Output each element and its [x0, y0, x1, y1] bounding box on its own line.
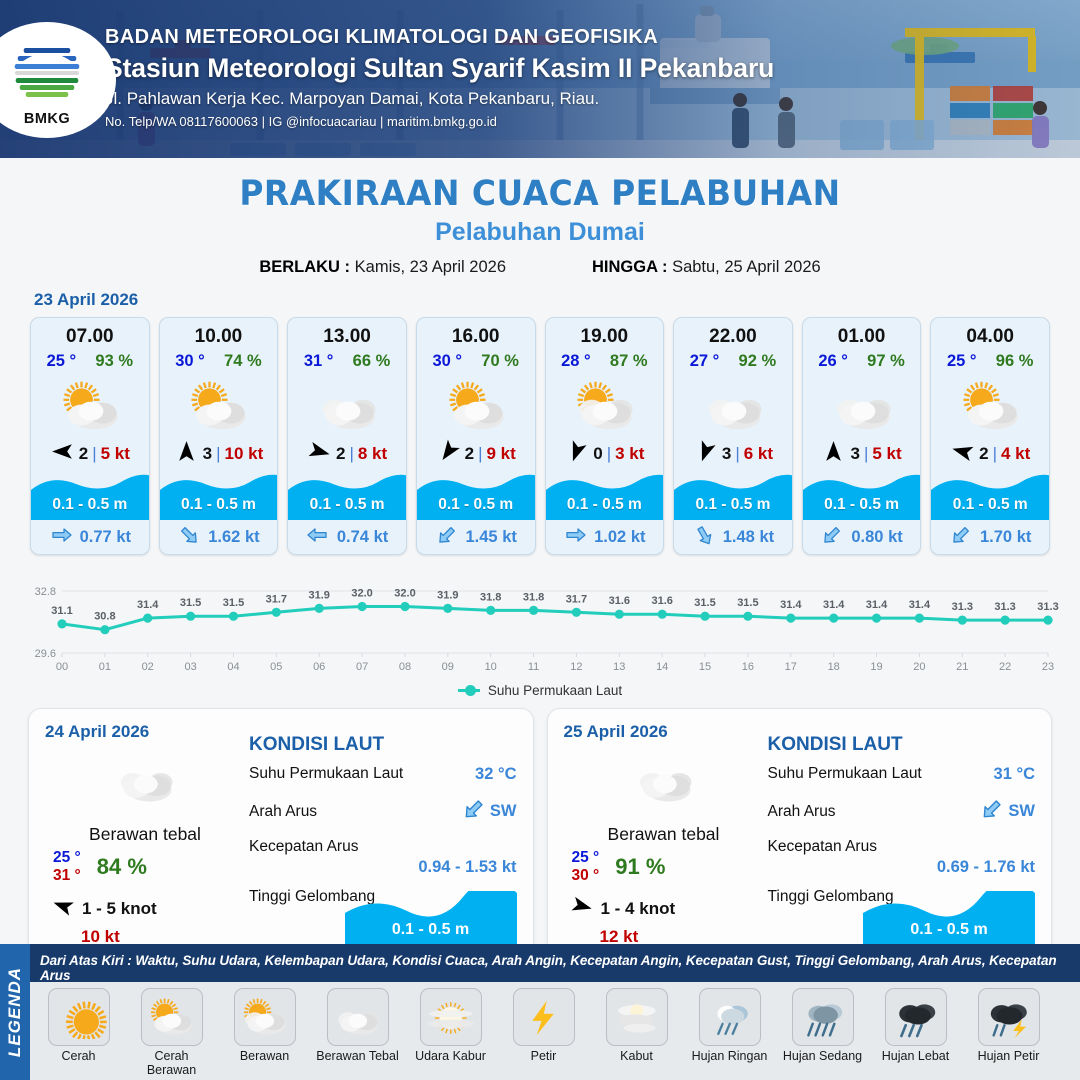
legend-weather-icon: [234, 988, 296, 1046]
card-humidity: 70 %: [481, 352, 519, 371]
card-weather-icon: [160, 374, 278, 436]
legend-item-label: Berawan Tebal: [316, 1049, 398, 1063]
svg-text:31.5: 31.5: [694, 597, 715, 609]
daily-wind-range: 1 - 4 knot: [601, 899, 676, 919]
card-wind: 2 | 5 kt: [31, 436, 149, 472]
card-current-speed: 1.70 kt: [980, 528, 1031, 547]
card-time: 22.00: [674, 318, 792, 348]
wind-direction-arrow-icon: [307, 439, 332, 469]
daily-condition: Berawan tebal: [45, 824, 245, 845]
card-current-speed: 0.77 kt: [80, 528, 131, 547]
card-weather-icon: [803, 374, 921, 436]
legend-weather-icon: [606, 988, 668, 1046]
card-gust: 4 kt: [1001, 444, 1030, 464]
svg-text:31.4: 31.4: [866, 599, 888, 611]
card-wave-height: 0.1 - 0.5 m: [546, 496, 664, 514]
svg-text:32.0: 32.0: [394, 588, 415, 600]
svg-text:31.9: 31.9: [437, 589, 458, 601]
svg-text:31.3: 31.3: [1037, 601, 1058, 613]
legend-item: Petir: [501, 988, 586, 1077]
card-time: 01.00: [803, 318, 921, 348]
svg-text:31.3: 31.3: [952, 601, 973, 613]
agency-name: BADAN METEOROLOGI KLIMATOLOGI DAN GEOFIS…: [105, 26, 774, 49]
card-wind: 2 | 8 kt: [288, 436, 406, 472]
current-speed-label: Kecepatan Arus: [768, 838, 1036, 856]
card-wind-speed: 2: [465, 444, 474, 464]
card-humidity: 87 %: [610, 352, 648, 371]
card-wave: 0.1 - 0.5 m: [546, 472, 664, 520]
title-block: PRAKIRAAN CUACA PELABUHAN Pelabuhan Duma…: [0, 174, 1080, 277]
current-direction-arrow-icon: [435, 523, 459, 552]
svg-text:31.3: 31.3: [994, 601, 1015, 613]
card-wind-speed: 2: [336, 444, 345, 464]
svg-text:05: 05: [270, 661, 282, 673]
svg-text:31.6: 31.6: [609, 595, 630, 607]
card-weather-icon: [288, 374, 406, 436]
card-wave: 0.1 - 0.5 m: [931, 472, 1049, 520]
page-title: PRAKIRAAN CUACA PELABUHAN: [32, 174, 1047, 214]
valid-from: BERLAKU : Kamis, 23 April 2026: [259, 258, 506, 277]
hourly-forecast-row: 07.00 25 ° 93 % 2 | 5 kt 0.1 - 0.5 m 0.7…: [0, 317, 1080, 555]
card-wind: 3 | 10 kt: [160, 436, 278, 472]
svg-text:23: 23: [1042, 661, 1054, 673]
current-direction-arrow-icon: [949, 523, 973, 552]
daily-date: 24 April 2026: [45, 722, 245, 742]
svg-text:31.4: 31.4: [909, 599, 931, 611]
legend-dot: [465, 685, 476, 696]
forecast-card: 22.00 27 ° 92 % 3 | 6 kt 0.1 - 0.5 m 1.4…: [673, 317, 793, 555]
svg-text:13: 13: [613, 661, 625, 673]
card-humidity: 74 %: [224, 352, 262, 371]
card-wave-height: 0.1 - 0.5 m: [674, 496, 792, 514]
card-time: 04.00: [931, 318, 1049, 348]
legend-item: Hujan Petir: [966, 988, 1051, 1077]
legend-weather-icon: [699, 988, 761, 1046]
card-weather-icon: [546, 374, 664, 436]
card-gust: 9 kt: [486, 444, 515, 464]
svg-text:07: 07: [356, 661, 368, 673]
card-humidity: 92 %: [739, 352, 777, 371]
card-wind: 3 | 5 kt: [803, 436, 921, 472]
svg-text:31.4: 31.4: [137, 599, 159, 611]
svg-text:09: 09: [442, 661, 454, 673]
card-current: 1.62 kt: [160, 520, 278, 554]
legend-weather-icon: [420, 988, 482, 1046]
forecast-date-label: 23 April 2026: [34, 290, 1080, 310]
card-gust: 6 kt: [744, 444, 773, 464]
wind-direction-arrow-icon: [693, 439, 718, 469]
legend-item-label: Kabut: [620, 1049, 653, 1063]
forecast-card: 16.00 30 ° 70 % 2 | 9 kt 0.1 - 0.5 m 1.4…: [416, 317, 536, 555]
current-direction-arrow-icon: [49, 523, 73, 552]
card-wind-speed: 2: [979, 444, 988, 464]
svg-text:16: 16: [742, 661, 754, 673]
legend-item-label: Berawan: [240, 1049, 289, 1063]
daily-humidity: 84 %: [97, 854, 147, 880]
svg-text:31.5: 31.5: [737, 597, 758, 609]
daily-temp-max: 30 °: [572, 867, 600, 885]
daily-wind: 1 - 5 knot: [45, 894, 245, 923]
bmkg-logo-icon: [5, 34, 89, 110]
current-speed-value: 0.94 - 1.53 kt: [249, 858, 517, 877]
legend-side-label: LEGENDA: [5, 967, 25, 1057]
chart-legend-label: Suhu Permukaan Laut: [488, 683, 622, 698]
svg-text:10: 10: [485, 661, 497, 673]
daily-temp-min: 25 °: [572, 849, 600, 867]
svg-text:08: 08: [399, 661, 411, 673]
legend-items: Cerah Cerah Berawan Berawan Berawan Teba…: [0, 982, 1080, 1077]
legend-item: Udara Kabur: [408, 988, 493, 1077]
legend-note: Dari Atas Kiri : Waktu, Suhu Udara, Kele…: [40, 953, 1080, 983]
card-humidity: 97 %: [867, 352, 905, 371]
daily-wave-height: 0.1 - 0.5 m: [863, 921, 1035, 939]
svg-text:15: 15: [699, 661, 711, 673]
legend-weather-icon: [513, 988, 575, 1046]
sst-chart: 32.829.631.10030.80131.40231.50331.50431…: [18, 569, 1062, 681]
svg-text:31.4: 31.4: [780, 599, 802, 611]
legend-item: Hujan Lebat: [873, 988, 958, 1077]
card-current: 0.77 kt: [31, 520, 149, 554]
card-humidity: 93 %: [95, 352, 133, 371]
svg-text:03: 03: [184, 661, 196, 673]
wind-direction-arrow-icon: [950, 439, 975, 469]
svg-text:31.9: 31.9: [308, 589, 329, 601]
card-temperature: 27 °: [690, 352, 720, 371]
card-current-speed: 1.02 kt: [594, 528, 645, 547]
legend-side-tab: LEGENDA: [0, 944, 30, 1080]
card-gust: 3 kt: [615, 444, 644, 464]
card-time: 13.00: [288, 318, 406, 348]
legend-weather-icon: [327, 988, 389, 1046]
legend-weather-icon: [48, 988, 110, 1046]
bmkg-logo-label: BMKG: [24, 111, 70, 127]
svg-text:31.7: 31.7: [566, 593, 587, 605]
card-weather-icon: [674, 374, 792, 436]
card-gust: 10 kt: [225, 444, 264, 464]
svg-text:32.8: 32.8: [35, 586, 56, 598]
svg-text:17: 17: [785, 661, 797, 673]
current-direction-value: SW: [1008, 802, 1035, 821]
legend-weather-icon: [978, 988, 1040, 1046]
card-temperature: 30 °: [432, 352, 462, 371]
wind-direction-arrow-icon: [436, 439, 461, 469]
sea-conditions-title: KONDISI LAUT: [768, 734, 1036, 756]
svg-text:20: 20: [913, 661, 925, 673]
svg-text:01: 01: [99, 661, 111, 673]
card-current: 0.74 kt: [288, 520, 406, 554]
card-wave-height: 0.1 - 0.5 m: [803, 496, 921, 514]
card-wave-height: 0.1 - 0.5 m: [417, 496, 535, 514]
daily-humidity: 91 %: [615, 854, 665, 880]
legend-item: Hujan Sedang: [780, 988, 865, 1077]
station-address: Jl. Pahlawan Kerja Kec. Marpoyan Damai, …: [105, 89, 774, 109]
legend-weather-icon: [885, 988, 947, 1046]
forecast-card: 07.00 25 ° 93 % 2 | 5 kt 0.1 - 0.5 m 0.7…: [30, 317, 150, 555]
daily-wave-badge: 0.1 - 0.5 m: [345, 891, 517, 947]
svg-text:31.8: 31.8: [480, 591, 501, 603]
forecast-card: 19.00 28 ° 87 % 0 | 3 kt 0.1 - 0.5 m: [545, 317, 665, 555]
validity-row: BERLAKU : Kamis, 23 April 2026 HINGGA : …: [0, 258, 1080, 277]
forecast-card: 13.00 31 ° 66 % 2 | 8 kt 0.1 - 0.5 m 0.7…: [287, 317, 407, 555]
card-humidity: 96 %: [996, 352, 1034, 371]
current-direction-arrow-icon: [979, 796, 1005, 827]
card-current-speed: 1.62 kt: [208, 528, 259, 547]
card-time: 07.00: [31, 318, 149, 348]
sst-label: Suhu Permukaan Laut: [768, 765, 922, 783]
card-wind: 2 | 4 kt: [931, 436, 1049, 472]
card-wind: 3 | 6 kt: [674, 436, 792, 472]
card-weather-icon: [31, 374, 149, 436]
legend-item: Kabut: [594, 988, 679, 1077]
wind-direction-arrow-icon: [570, 894, 594, 923]
card-current: 1.70 kt: [931, 520, 1049, 554]
legend-item-label: Hujan Lebat: [882, 1049, 949, 1063]
valid-from-label: BERLAKU :: [259, 258, 350, 276]
daily-forecast-card: 24 April 2026 Berawan tebal 25 ° 31 ° 84…: [28, 708, 534, 956]
card-wind-speed: 3: [850, 444, 859, 464]
card-time: 16.00: [417, 318, 535, 348]
daily-date: 25 April 2026: [564, 722, 764, 742]
port-name: Pelabuhan Dumai: [0, 218, 1080, 247]
legend-item: Cerah: [36, 988, 121, 1077]
sst-label: Suhu Permukaan Laut: [249, 765, 403, 783]
svg-text:11: 11: [528, 661, 539, 673]
svg-text:14: 14: [656, 661, 668, 673]
card-wave: 0.1 - 0.5 m: [417, 472, 535, 520]
legend-section: Dari Atas Kiri : Waktu, Suhu Udara, Kele…: [0, 944, 1080, 1080]
legend-note-bar: Dari Atas Kiri : Waktu, Suhu Udara, Kele…: [0, 944, 1080, 982]
sea-conditions-title: KONDISI LAUT: [249, 734, 517, 756]
svg-text:31.7: 31.7: [266, 593, 287, 605]
svg-text:06: 06: [313, 661, 325, 673]
legend-item-label: Hujan Petir: [978, 1049, 1040, 1063]
valid-to: HINGGA : Sabtu, 25 April 2026: [592, 258, 821, 277]
current-direction-label: Arah Arus: [249, 803, 317, 821]
card-temperature: 28 °: [561, 352, 591, 371]
sst-value: 31 °C: [994, 765, 1035, 784]
sst-chart-svg: 32.829.631.10030.80131.40231.50331.50431…: [18, 569, 1062, 681]
legend-item: Hujan Ringan: [687, 988, 772, 1077]
card-wave-height: 0.1 - 0.5 m: [31, 496, 149, 514]
current-direction-arrow-icon: [820, 523, 844, 552]
legend-item: Cerah Berawan: [129, 988, 214, 1077]
daily-weather-icon: [45, 748, 245, 810]
svg-text:21: 21: [956, 661, 968, 673]
card-current-speed: 0.74 kt: [337, 528, 388, 547]
current-speed-label: Kecepatan Arus: [249, 838, 517, 856]
legend-item-label: Hujan Sedang: [783, 1049, 862, 1063]
card-wave: 0.1 - 0.5 m: [31, 472, 149, 520]
card-wind-speed: 3: [722, 444, 731, 464]
station-contact: No. Telp/WA 08117600063 | IG @infocuacar…: [105, 114, 774, 129]
card-wave: 0.1 - 0.5 m: [160, 472, 278, 520]
chart-legend: Suhu Permukaan Laut: [0, 683, 1080, 698]
card-wind-speed: 0: [593, 444, 602, 464]
card-wave: 0.1 - 0.5 m: [803, 472, 921, 520]
wind-direction-arrow-icon: [174, 439, 199, 469]
svg-text:31.1: 31.1: [51, 605, 72, 617]
card-temperature: 30 °: [175, 352, 205, 371]
legend-weather-icon: [792, 988, 854, 1046]
daily-weather-icon: [564, 748, 764, 810]
current-direction-arrow-icon: [563, 523, 587, 552]
daily-wind: 1 - 4 knot: [564, 894, 764, 923]
card-wind-speed: 2: [79, 444, 88, 464]
svg-text:30.8: 30.8: [94, 611, 115, 623]
current-direction-arrow-icon: [692, 523, 716, 552]
card-wind: 0 | 3 kt: [546, 436, 664, 472]
svg-text:31.6: 31.6: [651, 595, 672, 607]
card-gust: 5 kt: [101, 444, 130, 464]
card-temperature: 31 °: [304, 352, 334, 371]
forecast-card: 10.00 30 ° 74 % 3 | 10 kt 0.1 - 0.5 m 1.…: [159, 317, 279, 555]
forecast-card: 01.00 26 ° 97 % 3 | 5 kt 0.1 - 0.5 m 0.8…: [802, 317, 922, 555]
svg-text:31.4: 31.4: [823, 599, 845, 611]
card-temperature: 26 °: [818, 352, 848, 371]
card-wave-height: 0.1 - 0.5 m: [288, 496, 406, 514]
card-current: 1.48 kt: [674, 520, 792, 554]
card-current-speed: 1.48 kt: [723, 528, 774, 547]
svg-text:18: 18: [828, 661, 840, 673]
daily-wave-height: 0.1 - 0.5 m: [345, 921, 517, 939]
legend-item-label: Cerah Berawan: [129, 1049, 214, 1077]
card-time: 19.00: [546, 318, 664, 348]
page-header: BMKG BADAN METEOROLOGI KLIMATOLOGI DAN G…: [0, 0, 1080, 158]
card-time: 10.00: [160, 318, 278, 348]
sst-value: 32 °C: [475, 765, 516, 784]
daily-temp-max: 31 °: [53, 867, 81, 885]
svg-text:31.8: 31.8: [523, 591, 544, 603]
svg-text:31.5: 31.5: [180, 597, 201, 609]
wind-direction-arrow-icon: [821, 439, 846, 469]
card-current: 0.80 kt: [803, 520, 921, 554]
card-wave-height: 0.1 - 0.5 m: [160, 496, 278, 514]
legend-item-label: Petir: [531, 1049, 557, 1063]
valid-from-value: Kamis, 23 April 2026: [355, 258, 506, 276]
current-direction-arrow-icon: [306, 523, 330, 552]
daily-forecast-row: 24 April 2026 Berawan tebal 25 ° 31 ° 84…: [0, 698, 1080, 956]
card-current: 1.45 kt: [417, 520, 535, 554]
legend-item-label: Hujan Ringan: [692, 1049, 768, 1063]
card-wave: 0.1 - 0.5 m: [674, 472, 792, 520]
card-wind-speed: 3: [203, 444, 212, 464]
current-direction-arrow-icon: [177, 523, 201, 552]
card-current-speed: 1.45 kt: [466, 528, 517, 547]
svg-text:32.0: 32.0: [351, 588, 372, 600]
svg-text:31.5: 31.5: [223, 597, 244, 609]
forecast-card: 04.00 25 ° 96 % 2 | 4 kt 0.1 - 0.5 m 1.7…: [930, 317, 1050, 555]
station-name: Stasiun Meteorologi Sultan Syarif Kasim …: [105, 53, 774, 84]
daily-condition: Berawan tebal: [564, 824, 764, 845]
svg-text:22: 22: [999, 661, 1011, 673]
daily-temp-min: 25 °: [53, 849, 81, 867]
card-current: 1.02 kt: [546, 520, 664, 554]
legend-weather-icon: [141, 988, 203, 1046]
legend-item-label: Udara Kabur: [415, 1049, 486, 1063]
card-temperature: 25 °: [47, 352, 77, 371]
svg-text:19: 19: [870, 661, 882, 673]
card-wind: 2 | 9 kt: [417, 436, 535, 472]
wind-direction-arrow-icon: [50, 439, 75, 469]
svg-text:04: 04: [227, 661, 239, 673]
daily-forecast-card: 25 April 2026 Berawan tebal 25 ° 30 ° 91…: [547, 708, 1053, 956]
card-weather-icon: [417, 374, 535, 436]
current-speed-value: 0.69 - 1.76 kt: [768, 858, 1036, 877]
svg-text:00: 00: [56, 661, 68, 673]
current-direction-arrow-icon: [461, 796, 487, 827]
card-humidity: 66 %: [353, 352, 391, 371]
card-wave-height: 0.1 - 0.5 m: [931, 496, 1049, 514]
valid-to-value: Sabtu, 25 April 2026: [672, 258, 821, 276]
card-temperature: 25 °: [947, 352, 977, 371]
valid-to-label: HINGGA :: [592, 258, 667, 276]
svg-text:12: 12: [570, 661, 582, 673]
card-weather-icon: [931, 374, 1049, 436]
svg-text:29.6: 29.6: [35, 648, 56, 660]
current-direction-label: Arah Arus: [768, 803, 836, 821]
legend-item: Berawan Tebal: [315, 988, 400, 1077]
svg-text:02: 02: [142, 661, 154, 673]
current-direction-value: SW: [490, 802, 517, 821]
card-current-speed: 0.80 kt: [851, 528, 902, 547]
wind-direction-arrow-icon: [51, 894, 75, 923]
legend-item: Berawan: [222, 988, 307, 1077]
wind-direction-arrow-icon: [564, 439, 589, 469]
daily-wave-badge: 0.1 - 0.5 m: [863, 891, 1035, 947]
card-gust: 8 kt: [358, 444, 387, 464]
daily-wind-range: 1 - 5 knot: [82, 899, 157, 919]
legend-item-label: Cerah: [61, 1049, 95, 1063]
card-wave: 0.1 - 0.5 m: [288, 472, 406, 520]
card-gust: 5 kt: [872, 444, 901, 464]
